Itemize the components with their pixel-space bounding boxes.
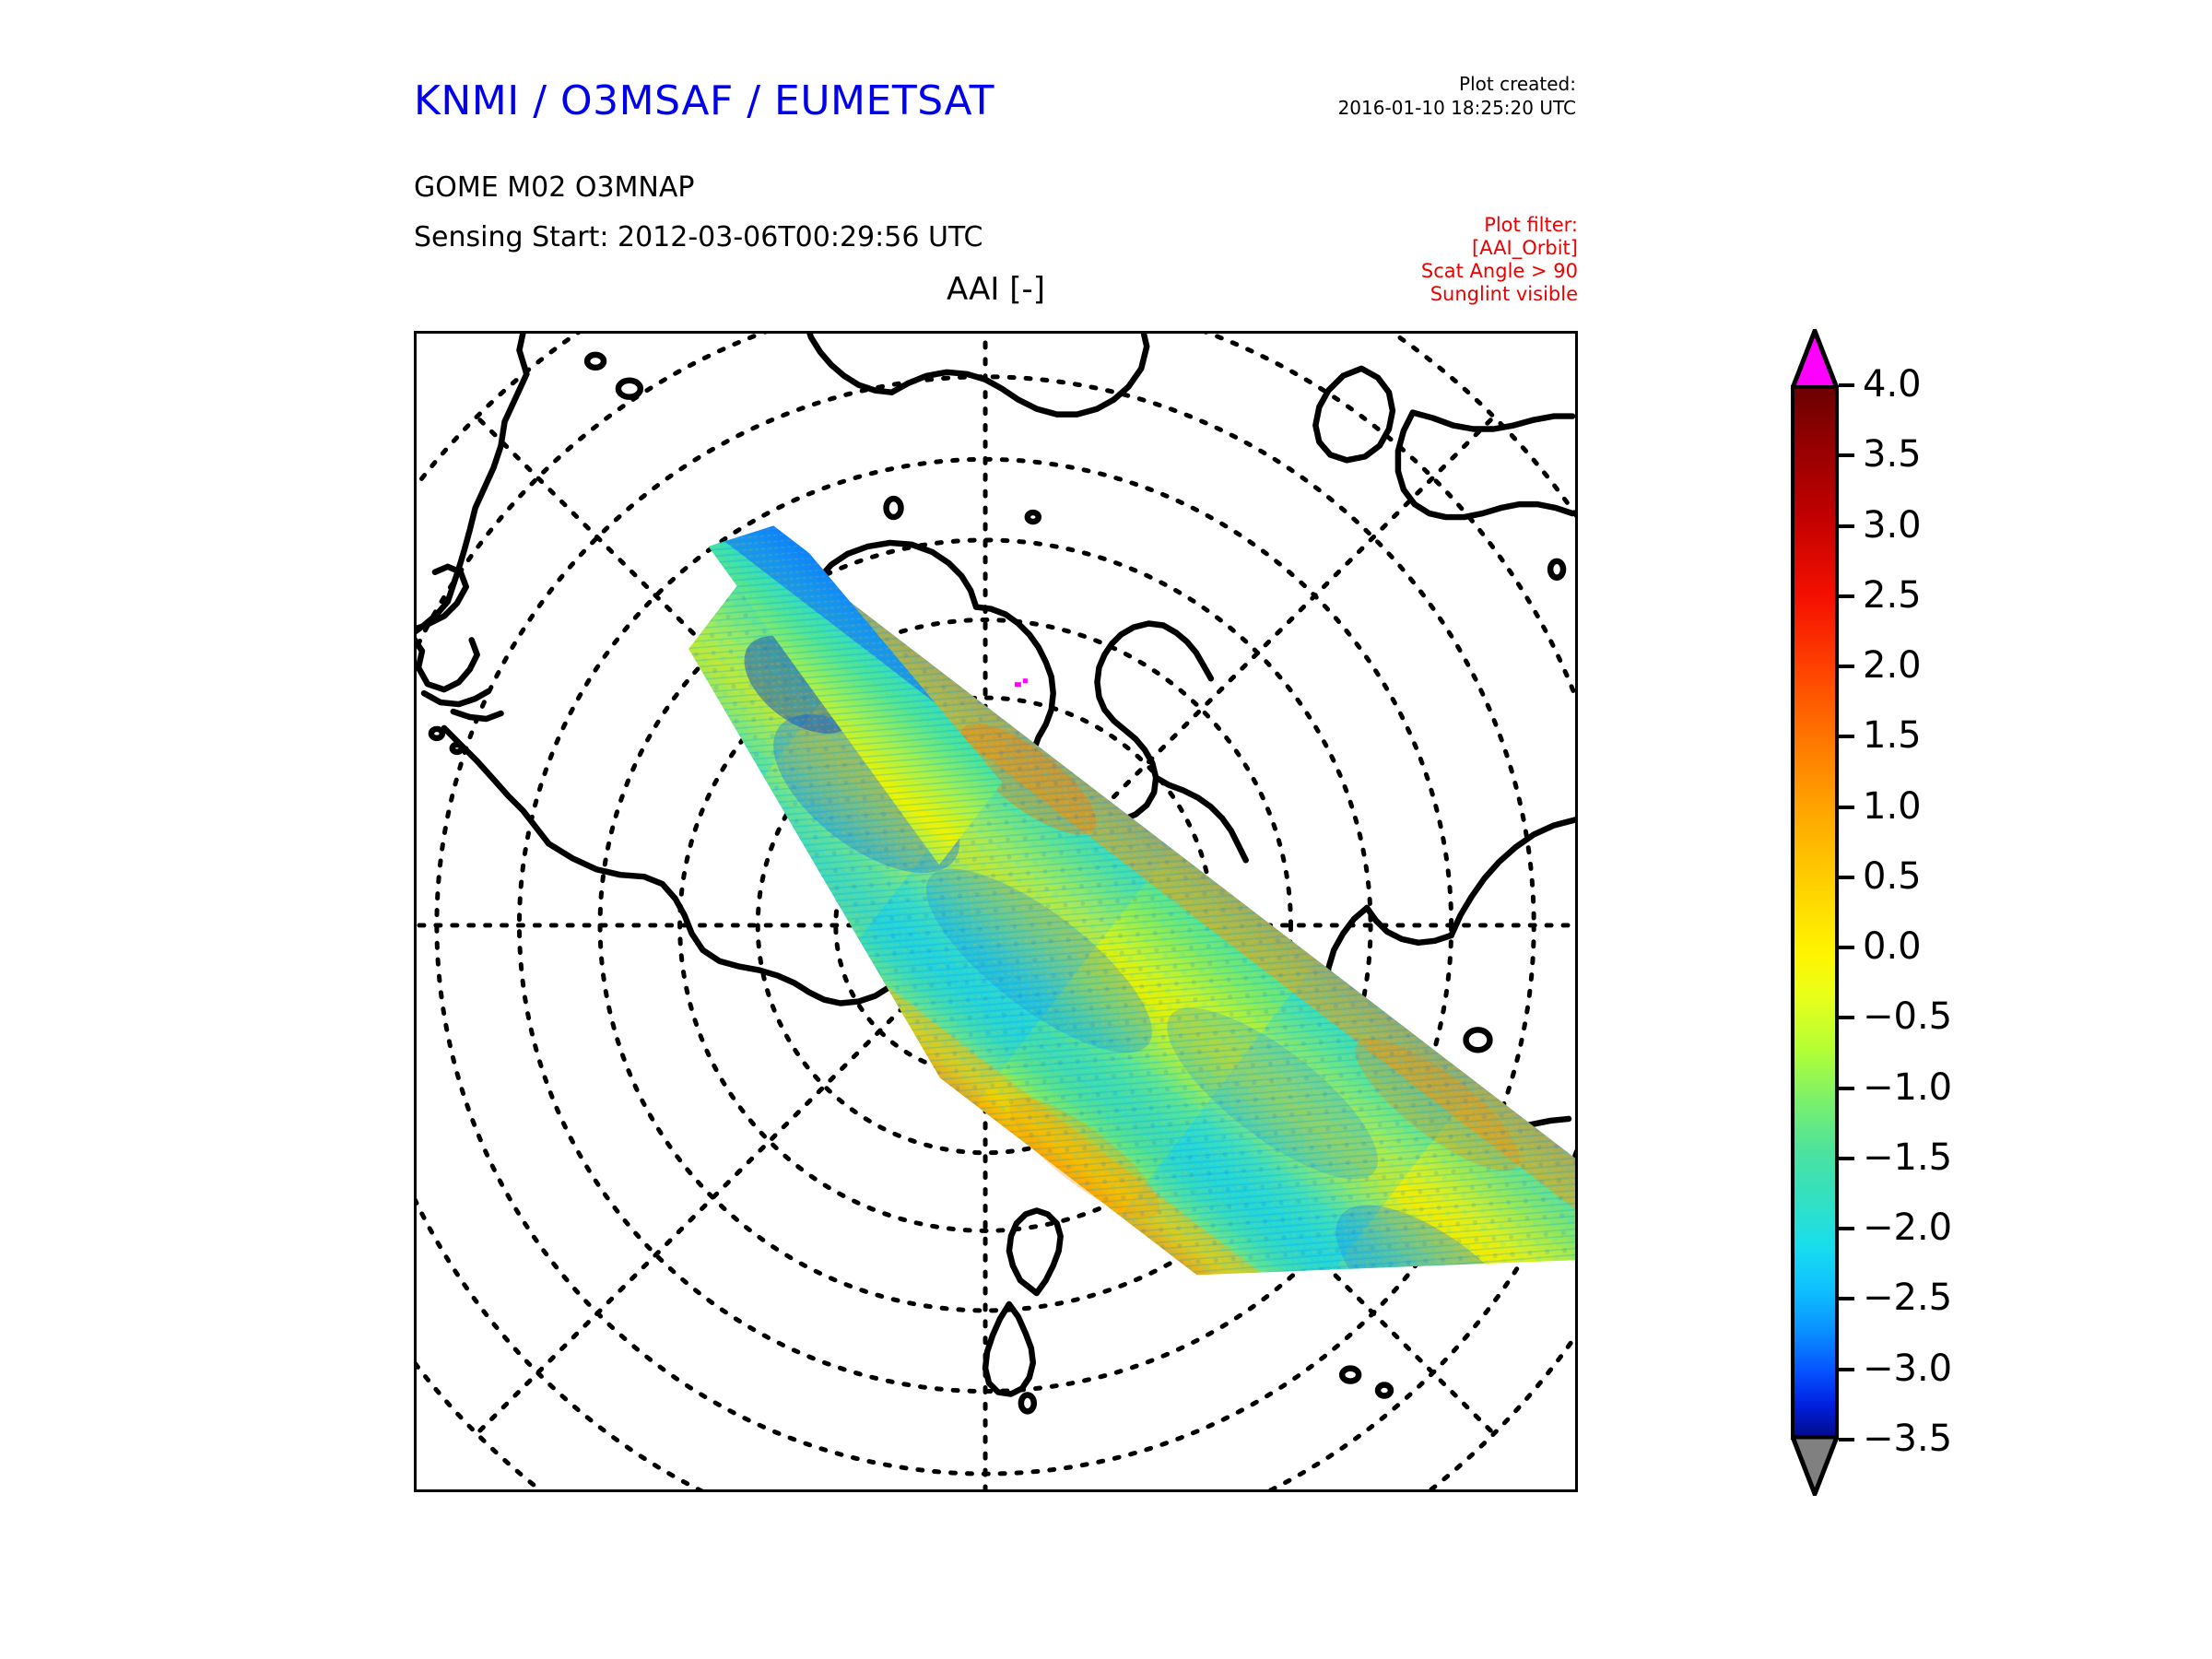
colorbar-tick xyxy=(1839,876,1854,879)
colorbar-tick-label: 3.0 xyxy=(1863,507,1922,544)
plot-filter-block: Plot filter: [AAI_Orbit] Scat Angle > 90… xyxy=(1290,214,1578,306)
instrument-line: GOME M02 O3MNAP xyxy=(414,171,694,204)
plot-created-block: Plot created: 2016-01-10 18:25:20 UTC xyxy=(1318,72,1576,120)
colorbar-tick xyxy=(1839,453,1854,457)
colorbar-tick xyxy=(1839,1297,1854,1300)
colorbar-tick-label: −0.5 xyxy=(1863,998,1952,1035)
organization-title: KNMI / O3MSAF / EUMETSAT xyxy=(414,77,994,124)
plot-created-value: 2016-01-10 18:25:20 UTC xyxy=(1318,96,1576,120)
colorbar-tick xyxy=(1839,806,1854,809)
colorbar-tick-label: 1.5 xyxy=(1863,717,1922,754)
over-range-speck xyxy=(1015,678,1028,687)
colorbar-tick-label: 2.0 xyxy=(1863,647,1922,684)
sensing-start-line: Sensing Start: 2012-03-06T00:29:56 UTC xyxy=(414,221,982,253)
colorbar-tick-label: −1.5 xyxy=(1863,1139,1952,1176)
colorbar-tick-label: −3.5 xyxy=(1863,1420,1952,1457)
colorbar-gradient xyxy=(1791,385,1839,1440)
colorbar-tick-label: 3.5 xyxy=(1863,436,1922,473)
aai-orbit-swath xyxy=(524,497,1575,1489)
colorbar-tick xyxy=(1839,594,1854,598)
colorbar-tick xyxy=(1839,383,1854,387)
colorbar-tick xyxy=(1839,1087,1854,1090)
colorbar-tick xyxy=(1839,665,1854,668)
plot-created-label: Plot created: xyxy=(1318,72,1576,96)
colorbar-tick-label: 2.5 xyxy=(1863,577,1922,614)
colorbar-tick-label: 0.0 xyxy=(1863,928,1922,965)
colorbar[interactable]: 4.03.53.02.52.01.51.00.50.0−0.5−1.0−1.5−… xyxy=(1791,329,2159,1495)
plot-filter-line-2: Scat Angle > 90 xyxy=(1290,260,1578,283)
colorbar-tick xyxy=(1839,735,1854,738)
colorbar-tick xyxy=(1839,1016,1854,1019)
colorbar-over-arrow-icon xyxy=(1791,329,1839,390)
colorbar-tick xyxy=(1839,524,1854,528)
colorbar-tick-label: −3.0 xyxy=(1863,1350,1952,1387)
colorbar-tick-label: 0.5 xyxy=(1863,858,1922,895)
map-plot-area[interactable] xyxy=(414,331,1578,1492)
colorbar-under-arrow-icon xyxy=(1791,1435,1839,1496)
colorbar-tick xyxy=(1839,1368,1854,1371)
colorbar-tick-label: 4.0 xyxy=(1863,366,1922,403)
colorbar-tick-label: −1.0 xyxy=(1863,1069,1952,1106)
polar-stereographic-map xyxy=(417,334,1575,1489)
colorbar-tick xyxy=(1839,1438,1854,1441)
colorbar-tick xyxy=(1839,1157,1854,1160)
colorbar-tick-label: −2.5 xyxy=(1863,1279,1952,1316)
colorbar-tick-label: −2.0 xyxy=(1863,1209,1952,1246)
plot-filter-line-3: Sunglint visible xyxy=(1290,283,1578,306)
colorbar-tick-label: 1.0 xyxy=(1863,788,1922,825)
colorbar-tick xyxy=(1839,946,1854,949)
plot-filter-title: Plot filter: xyxy=(1290,214,1578,237)
colorbar-tick xyxy=(1839,1227,1854,1230)
plot-filter-line-1: [AAI_Orbit] xyxy=(1290,237,1578,260)
